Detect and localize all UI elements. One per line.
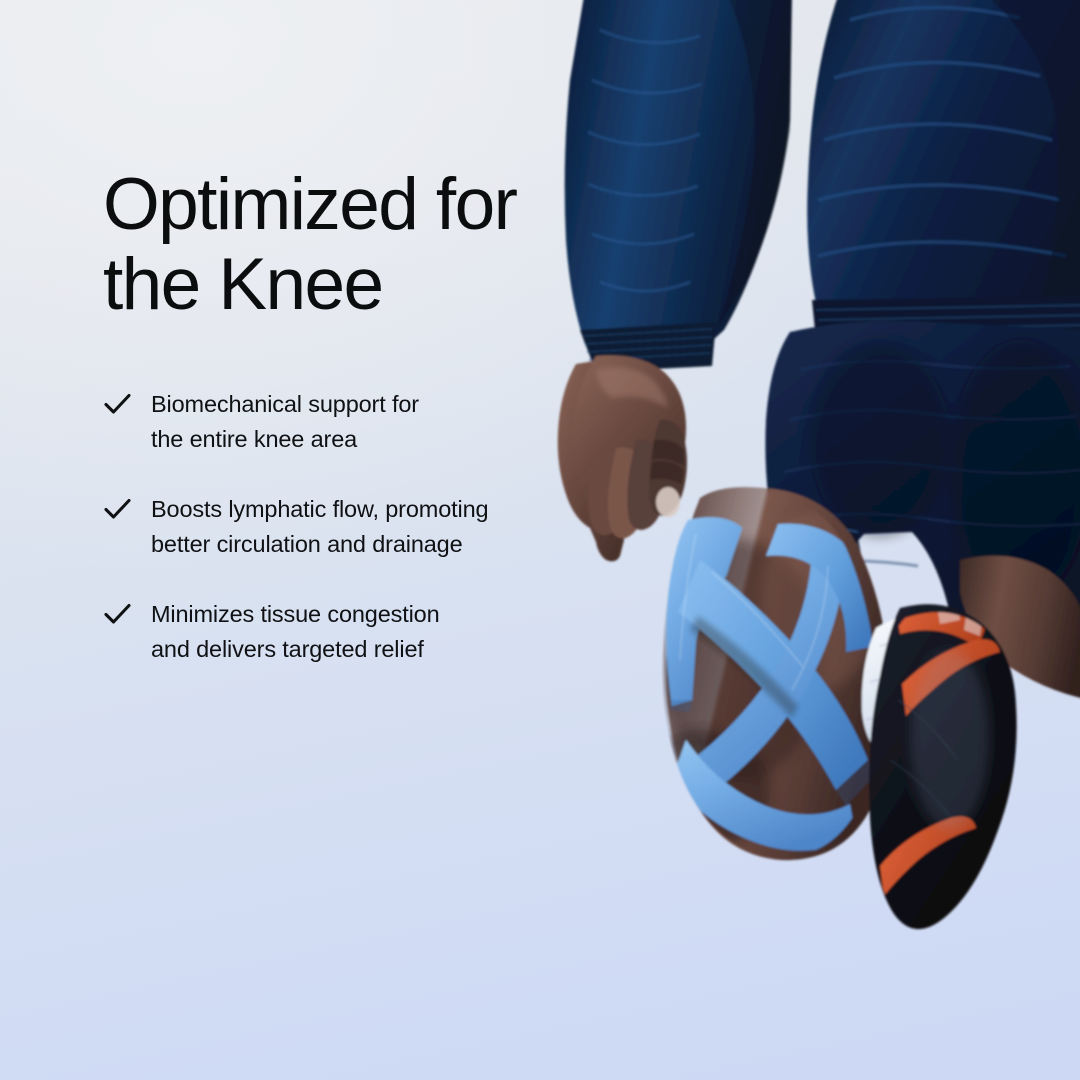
nike-swoosh-lower: [880, 816, 976, 896]
text-column: Optimized for the Knee Biomechanical sup…: [103, 0, 573, 1080]
shoe-collar-trim: [896, 606, 986, 648]
nike-swoosh-upper: [902, 639, 1000, 716]
thumbnail: [656, 487, 680, 517]
jacket-body: [807, 0, 1080, 352]
check-icon: [103, 391, 133, 418]
sock: [862, 615, 985, 769]
sleeve-cuff: [580, 322, 716, 372]
check-icon: [103, 496, 133, 523]
list-item: Minimizes tissue congestion and delivers…: [103, 597, 573, 666]
jacket-sleeve: [565, 0, 792, 366]
jacket-hem: [812, 296, 1080, 352]
benefit-text: Boosts lymphatic flow, promoting better …: [151, 492, 488, 561]
near-leg: [666, 487, 892, 860]
poster-canvas: Optimized for the Knee Biomechanical sup…: [0, 0, 1080, 1080]
thumb: [649, 420, 687, 516]
page-title: Optimized for the Knee: [103, 165, 573, 326]
finger-ring: [627, 440, 667, 530]
benefits-list: Biomechanical support for the entire kne…: [103, 387, 573, 666]
finger-middle: [608, 447, 649, 538]
far-thigh: [960, 556, 1080, 700]
finger-index: [588, 451, 630, 535]
list-item: Biomechanical support for the entire kne…: [103, 387, 573, 456]
kinesiology-tape: [666, 517, 876, 850]
shorts: [765, 321, 1080, 631]
shorts-hem-left: [768, 500, 862, 560]
soccer-cleat: [869, 604, 1017, 929]
list-item: Boosts lymphatic flow, promoting better …: [103, 492, 573, 561]
hand-palm: [572, 355, 686, 516]
benefit-text: Minimizes tissue congestion and delivers…: [151, 597, 440, 666]
benefit-text: Biomechanical support for the entire kne…: [151, 387, 419, 456]
check-icon: [103, 601, 133, 628]
